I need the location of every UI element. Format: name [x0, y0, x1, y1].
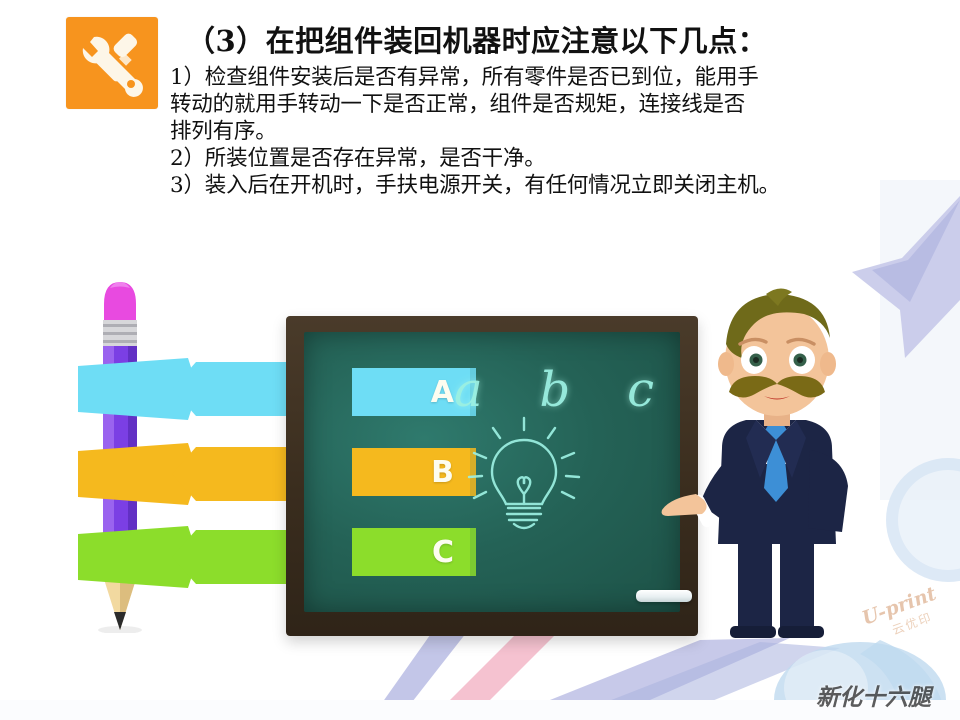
tools-badge [66, 17, 158, 109]
illustration: A B C a b c [60, 268, 900, 648]
slide-header: （3）在把组件装回机器时应注意以下几点： 1）检查组件安装后是否有异常，所有零件… [0, 0, 960, 215]
list-item: 转动的就用手转动一下是否正常，组件是否规矩，连接线是否 [170, 91, 880, 118]
instructions-list: 1）检查组件安装后是否有异常，所有零件是否已到位，能用手 转动的就用手转动一下是… [170, 64, 880, 199]
list-item: 1）检查组件安装后是否有异常，所有零件是否已到位，能用手 [170, 64, 880, 91]
page-title: （3）在把组件装回机器时应注意以下几点： [186, 20, 886, 62]
list-item: 排列有序。 [170, 118, 880, 145]
list-item: 2）所装位置是否存在异常，是否干净。 [170, 145, 880, 172]
chalk-letter-c: c [627, 362, 654, 418]
chalkboard: A B C a b c [286, 316, 698, 636]
slide-canvas: （3）在把组件装回机器时应注意以下几点： 1）检查组件安装后是否有异常，所有零件… [0, 0, 960, 720]
tools-wrench-screwdriver-icon [74, 25, 150, 101]
board-tag-b: B [352, 448, 470, 496]
lightbulb-icon [464, 410, 584, 550]
chalkboard-surface: A B C a b c [304, 332, 680, 612]
list-item: 3）装入后在开机时，手扶电源开关，有任何情况立即关闭主机。 [170, 172, 880, 199]
board-tag-c: C [352, 528, 470, 576]
board-tag-a: A [352, 368, 470, 416]
teacher-character-icon [660, 288, 890, 648]
watermark-brand: 新化十六腿 [816, 678, 931, 712]
